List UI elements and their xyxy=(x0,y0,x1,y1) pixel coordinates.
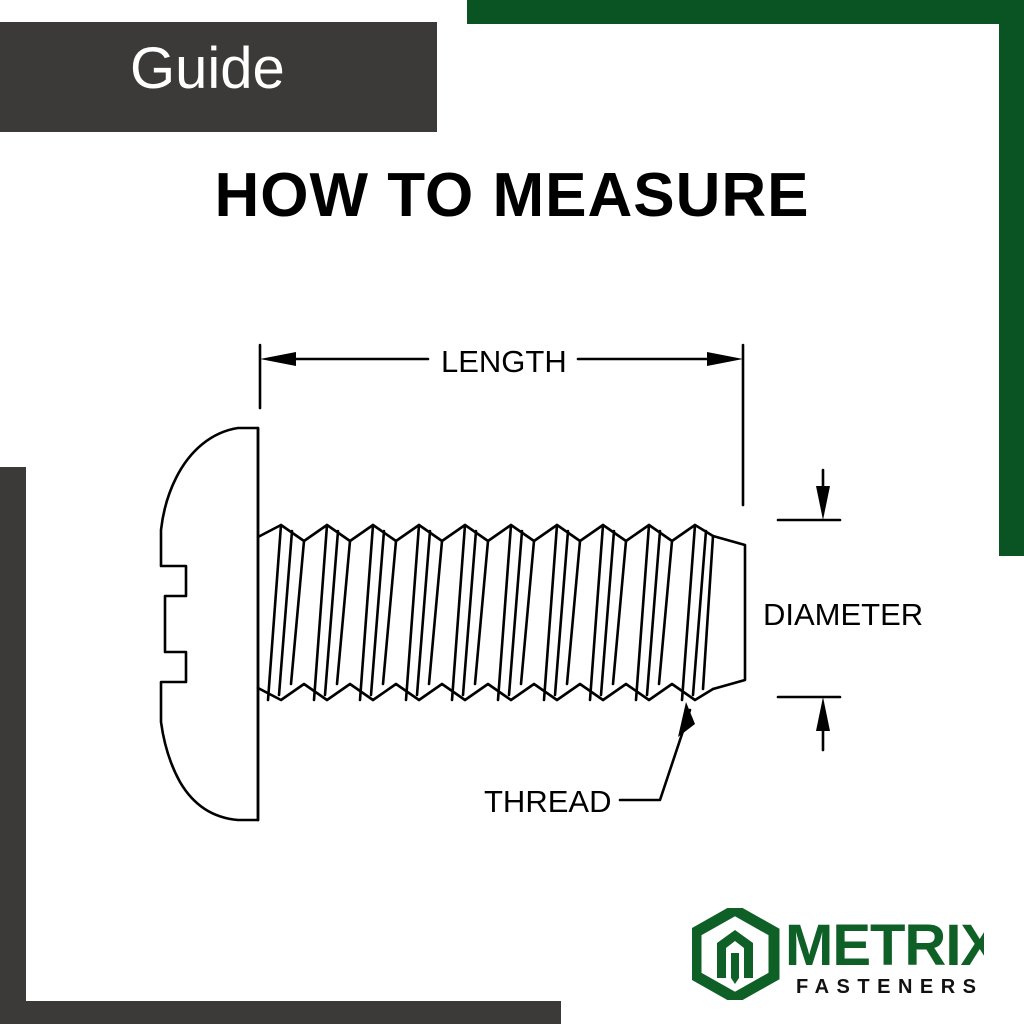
metrix-fasteners-logo: METRIX FASTENERS xyxy=(692,908,984,1000)
thread-leader-line xyxy=(620,710,690,800)
diameter-label: DIAMETER xyxy=(763,597,923,632)
length-arrow-right xyxy=(707,352,743,366)
length-label: LENGTH xyxy=(441,344,567,379)
logo-tagline-text: FASTENERS xyxy=(796,976,984,998)
screw-measurement-diagram: LENGTH DIAMETER THREAD xyxy=(0,0,1024,1024)
poster-canvas: Guide HOW TO MEASURE xyxy=(0,0,1024,1024)
thread-label: THREAD xyxy=(484,784,611,819)
thread-end-tip xyxy=(713,536,745,689)
diameter-arrow-top xyxy=(816,486,830,520)
thread-flank-lines xyxy=(268,525,713,700)
diameter-arrow-bottom xyxy=(816,697,830,731)
hexagon-m-icon xyxy=(696,910,774,998)
logo-brand-text: METRIX xyxy=(785,913,984,978)
thread-arrow xyxy=(678,702,695,737)
screw-head-outline xyxy=(161,428,258,820)
length-arrow-left xyxy=(260,352,296,366)
